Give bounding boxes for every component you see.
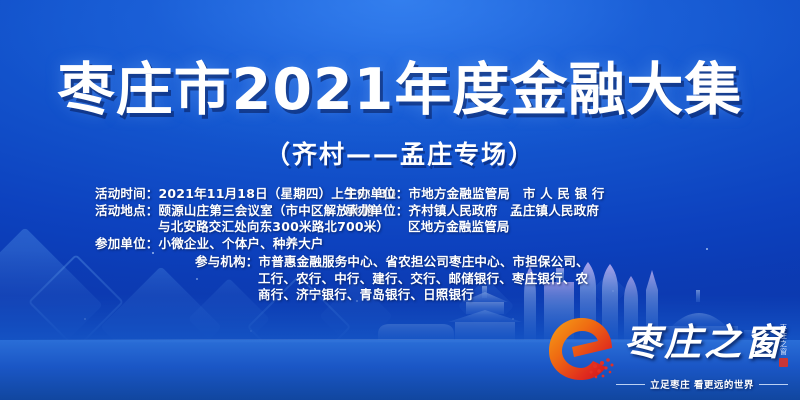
detail-label: 主办单位： [345, 186, 409, 203]
detail-row-place-cont: 与北安路交汇处向东300米路北700米） [95, 219, 345, 236]
detail-row-organizer: 承办单位： 齐村镇人民政府 孟庄镇人民政府 [345, 203, 800, 220]
background-top-glow [0, 0, 800, 200]
site-logo[interactable]: 枣庄之窗 枣庄之窗 立足枣庄 看更远的世界 [542, 308, 792, 394]
detail-row-organizer-cont: 区地方金融监管局 [345, 219, 800, 236]
site-logo-name: 枣庄之窗 [624, 312, 784, 366]
event-details: 活动时间： 2021年11月18日（星期四）上午9：30 活动地点： 颐源山庄第… [0, 186, 800, 304]
calligraphy-seal-icon: 枣庄之窗 [777, 324, 790, 367]
detail-row-place: 活动地点： 颐源山庄第三会议室（市中区解放北路 [95, 203, 345, 220]
detail-label: 活动时间： [95, 186, 159, 203]
institutions-row: 工行、农行、中行、建行、交行、邮储银行、枣庄银行、农 [195, 271, 800, 288]
event-details-left-column: 活动时间： 2021年11月18日（星期四）上午9：30 活动地点： 颐源山庄第… [0, 186, 345, 252]
detail-value: 区地方金融监管局 [408, 219, 510, 236]
detail-label: 参加单位： [95, 236, 159, 253]
detail-row-participants: 参加单位： 小微企业、个体户、种养大户 [95, 236, 345, 253]
site-logo-tagline-wrap: 立足枣庄 看更远的世界 [616, 377, 788, 391]
detail-label: 活动地点： [95, 203, 159, 220]
detail-row-time: 活动时间： 2021年11月18日（星期四）上午9：30 [95, 186, 345, 203]
detail-value: 齐村镇人民政府 孟庄镇人民政府 [409, 203, 600, 220]
detail-row-host: 主办单位： 市地方金融监管局 市 人 民 银 行 [345, 186, 800, 203]
event-details-right-column: 主办单位： 市地方金融监管局 市 人 民 银 行 承办单位： 齐村镇人民政府 孟… [345, 186, 800, 236]
event-details-columns: 活动时间： 2021年11月18日（星期四）上午9：30 活动地点： 颐源山庄第… [0, 186, 800, 252]
seal-text: 枣庄之窗 [777, 324, 790, 356]
detail-value: 小微企业、个体户、种养大户 [159, 236, 324, 253]
institutions-value: 工行、农行、中行、建行、交行、邮储银行、枣庄银行、农 [258, 271, 588, 286]
tagline-rule-right [759, 384, 788, 385]
participating-institutions: 参与机构： 市普惠金融服务中心、省农担公司枣庄中心、市担保公司、 工行、农行、中… [0, 254, 800, 304]
detail-label: 承办单位： [345, 203, 409, 220]
seal-stamp [779, 358, 788, 367]
tagline-rule-left [616, 384, 645, 385]
poster-banner: 枣庄市2021年度金融大集 （齐村——孟庄专场） 活动时间： 2021年11月1… [0, 0, 800, 400]
institutions-row: 参与机构： 市普惠金融服务中心、省农担公司枣庄中心、市担保公司、 [195, 254, 800, 271]
institutions-value: 商行、济宁银行、青岛银行、日照银行 [258, 287, 474, 302]
detail-value: 颐源山庄第三会议室（市中区解放北路 [159, 203, 375, 220]
site-tagline: 立足枣庄 看更远的世界 [650, 377, 754, 391]
institutions-label: 参与机构： [195, 254, 259, 271]
zaozhuang-e-emblem-icon [546, 314, 618, 384]
institutions-row: 商行、济宁银行、青岛银行、日照银行 [195, 287, 800, 304]
institutions-value: 市普惠金融服务中心、省农担公司枣庄中心、市担保公司、 [259, 254, 589, 271]
detail-value: 市地方金融监管局 市 人 民 银 行 [409, 186, 605, 203]
